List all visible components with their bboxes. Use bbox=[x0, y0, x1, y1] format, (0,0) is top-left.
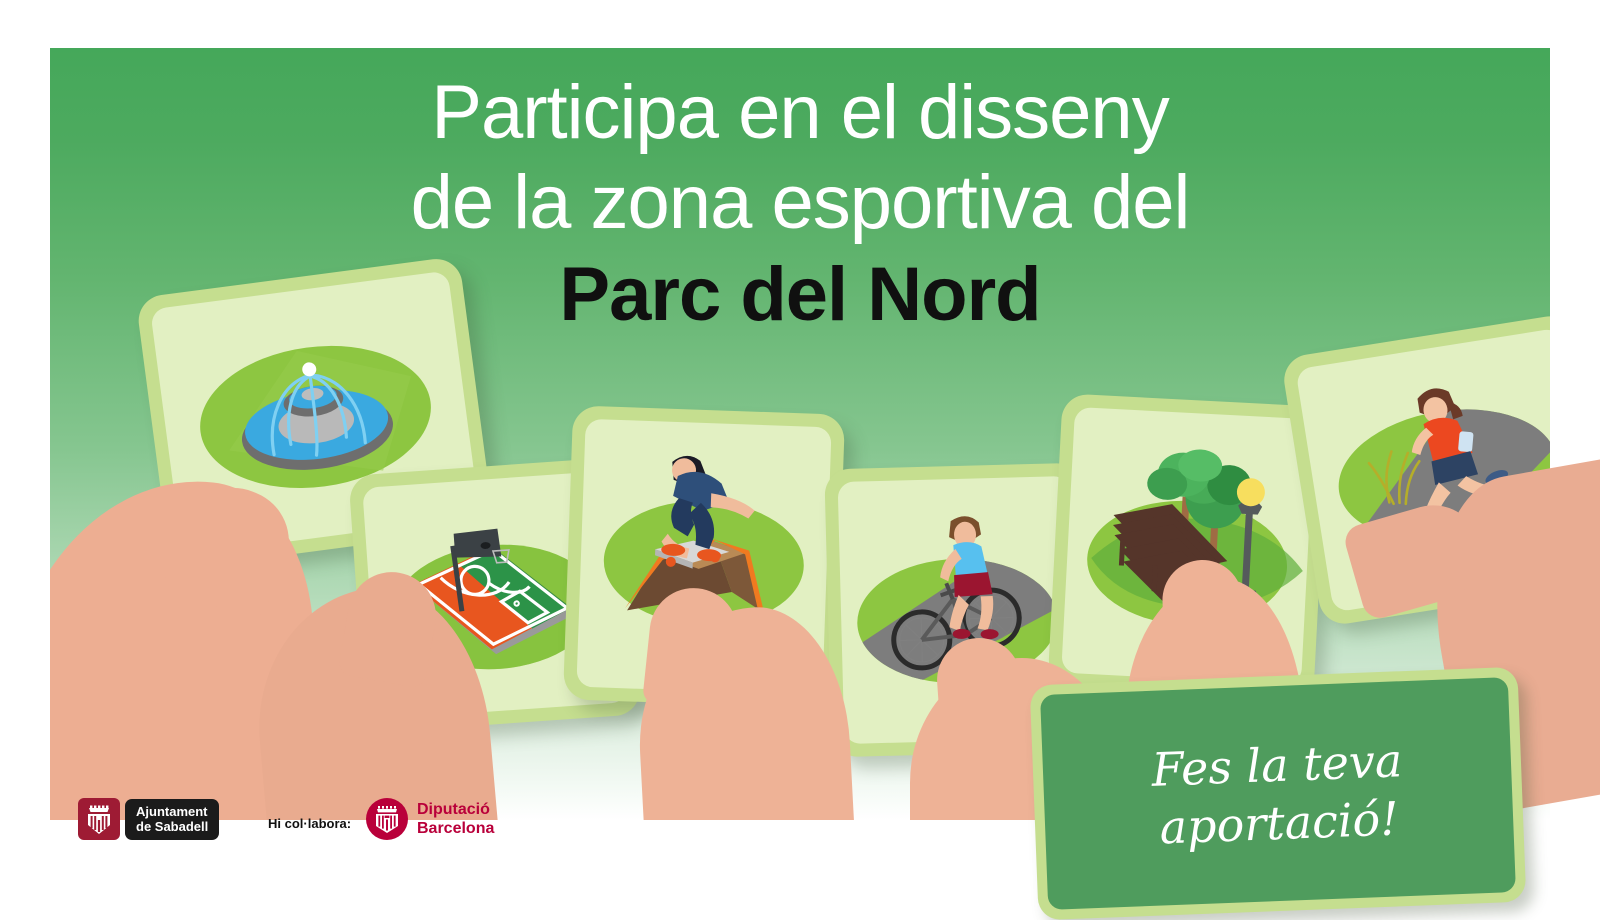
diputacio-crest-icon bbox=[366, 798, 408, 840]
collaborates-label: Hi col·labora: bbox=[268, 816, 351, 831]
ajuntament-name: Ajuntament de Sabadell bbox=[125, 799, 219, 840]
logo-diputacio-barcelona[interactable]: Diputació Barcelona bbox=[366, 798, 494, 840]
diputacio-line-2: Barcelona bbox=[417, 819, 494, 838]
diputacio-shield-icon bbox=[373, 804, 401, 834]
diputacio-name: Diputació Barcelona bbox=[417, 800, 494, 838]
sabadell-shield-icon bbox=[78, 798, 120, 840]
title-line-2: de la zona esportiva del bbox=[50, 158, 1550, 248]
cta-text: Fes la teva aportació! bbox=[1150, 731, 1405, 857]
cta-line-1: Fes la teva bbox=[1151, 733, 1404, 797]
title-line-1: Participa en el disseny bbox=[50, 68, 1550, 158]
ajuntament-line-2: de Sabadell bbox=[136, 819, 208, 834]
sabadell-crest-icon bbox=[84, 803, 114, 835]
cta-line-2: aportació! bbox=[1159, 791, 1400, 854]
poster-canvas: Participa en el disseny de la zona espor… bbox=[0, 0, 1600, 900]
hand-pointing-bench-finger bbox=[1161, 559, 1245, 672]
diputacio-line-1: Diputació bbox=[417, 800, 494, 819]
logo-ajuntament-sabadell[interactable]: Ajuntament de Sabadell bbox=[78, 798, 219, 840]
cta-card[interactable]: Fes la teva aportació! bbox=[1030, 667, 1527, 920]
cta-card-inner: Fes la teva aportació! bbox=[1040, 677, 1516, 910]
ajuntament-line-1: Ajuntament bbox=[136, 804, 208, 819]
